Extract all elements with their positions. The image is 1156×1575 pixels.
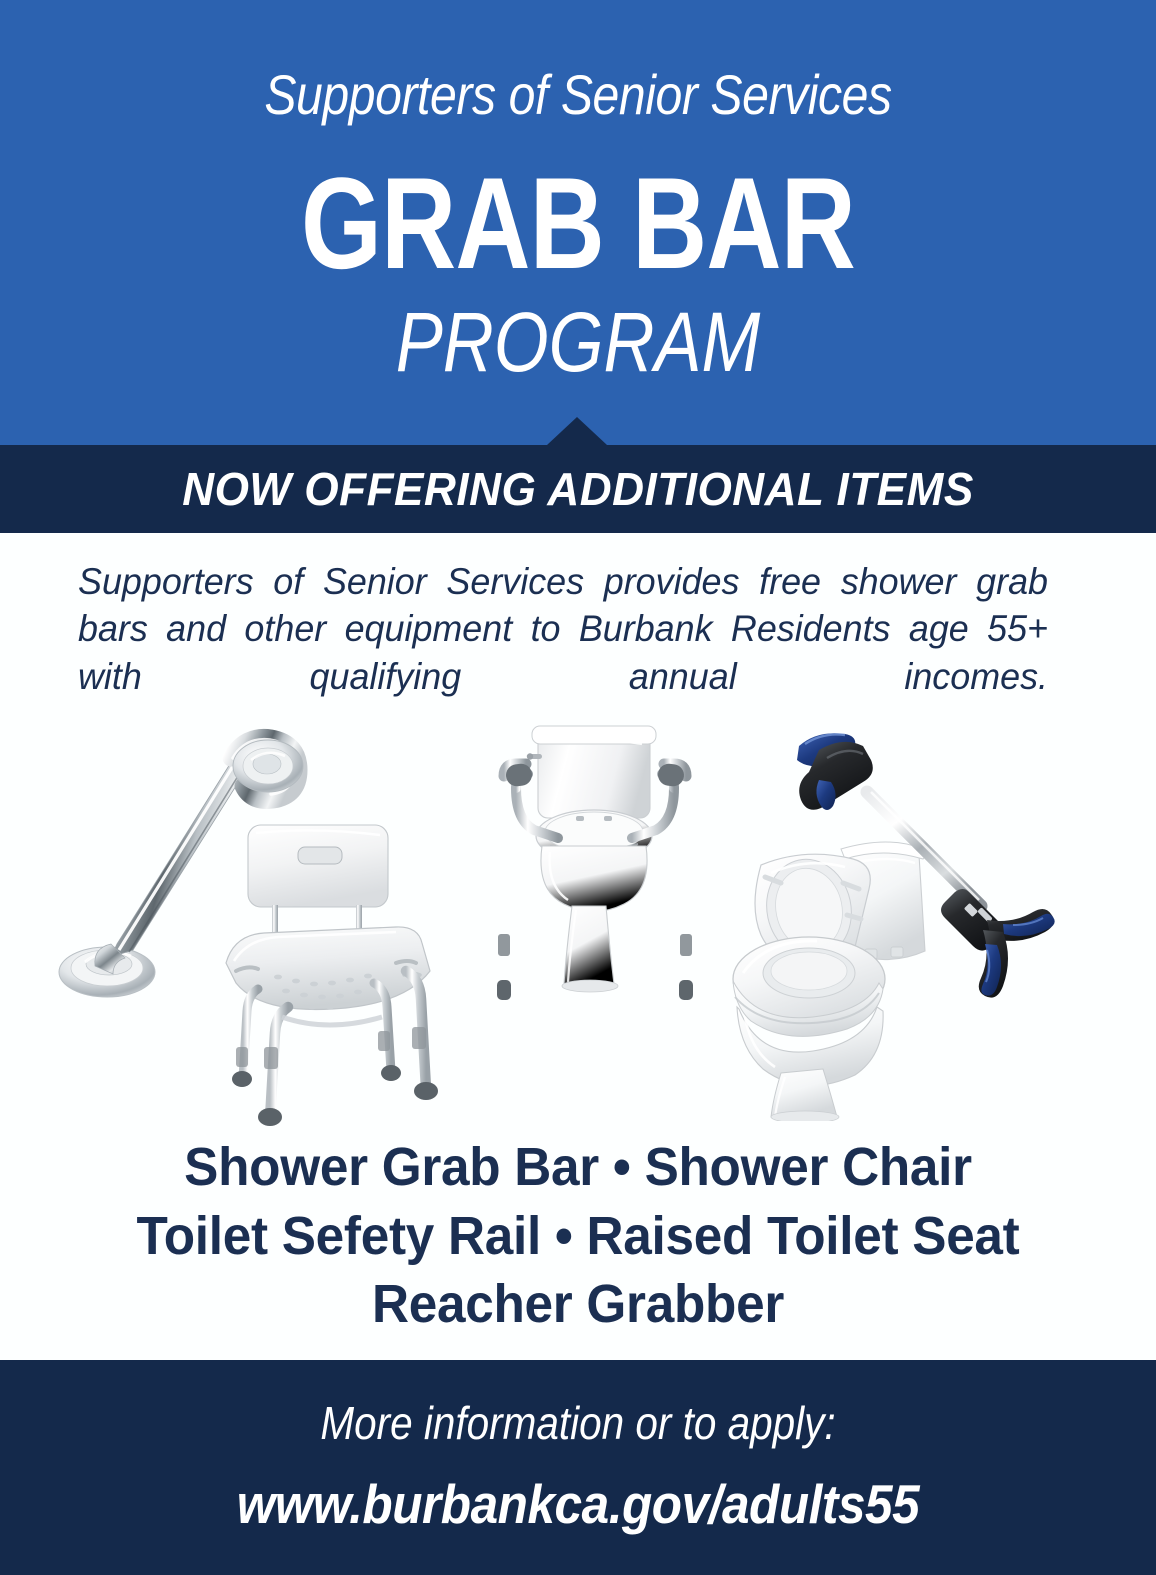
poster-root: Supporters of Senior Services GRAB BAR P… bbox=[0, 0, 1156, 1575]
ribbon-notch-triangle bbox=[547, 417, 607, 445]
reacher-grabber-icon bbox=[775, 708, 1075, 998]
toilet-safety-rail-image bbox=[480, 718, 710, 1028]
announcement-text: NOW OFFERING ADDITIONAL ITEMS bbox=[23, 445, 1133, 533]
item-list-line-2: Toilet Sefety Rail • Raised Toilet Seat bbox=[29, 1202, 1127, 1271]
reacher-grabber-image bbox=[775, 708, 1075, 998]
product-image-band bbox=[0, 706, 1156, 1126]
announcement-ribbon: NOW OFFERING ADDITIONAL ITEMS bbox=[0, 445, 1156, 533]
item-list-line-3: Reacher Grabber bbox=[29, 1270, 1127, 1339]
shower-chair-image bbox=[200, 811, 460, 1131]
item-list-line-1: Shower Grab Bar • Shower Chair bbox=[29, 1133, 1127, 1202]
page-title: GRAB BAR bbox=[116, 158, 1041, 288]
shower-chair-icon bbox=[200, 811, 460, 1131]
item-list: Shower Grab Bar • Shower Chair Toilet Se… bbox=[29, 1133, 1127, 1339]
footer-banner: More information or to apply: www.burban… bbox=[0, 1360, 1156, 1575]
page-subtitle: PROGRAM bbox=[92, 300, 1063, 384]
header-banner: Supporters of Senior Services GRAB BAR P… bbox=[0, 0, 1156, 445]
toilet-safety-rail-icon bbox=[480, 718, 710, 1028]
footer-label: More information or to apply: bbox=[69, 1396, 1086, 1450]
organization-name: Supporters of Senior Services bbox=[81, 62, 1075, 127]
apply-url-link[interactable]: www.burbankca.gov/adults55 bbox=[58, 1472, 1098, 1536]
